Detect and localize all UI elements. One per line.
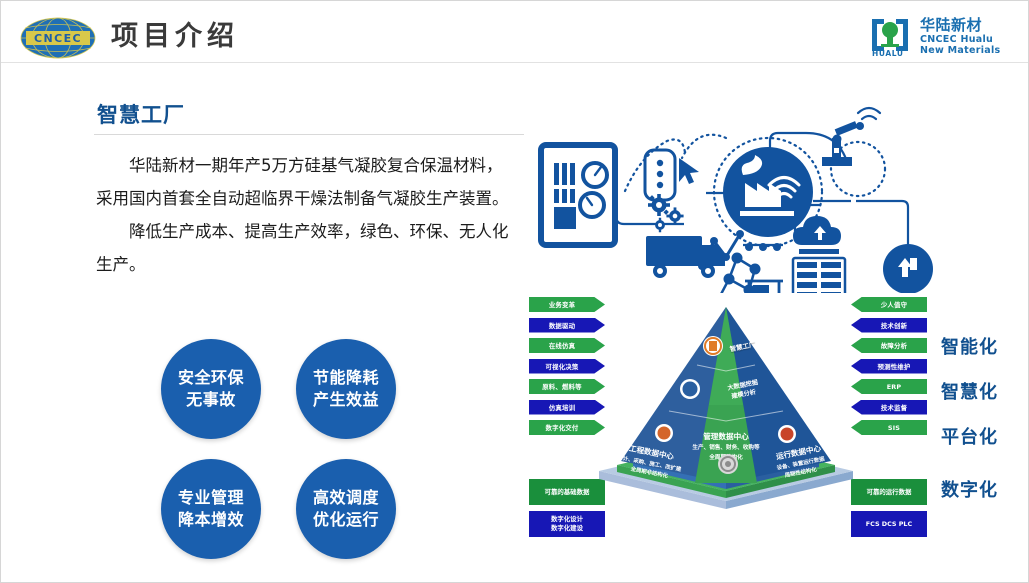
hualu-mark-icon: HUALU [872, 19, 908, 57]
benefit-circle-energy-line1: 节能降耗 [313, 367, 379, 389]
cursor-icon [679, 158, 699, 184]
pyramid-left-badge [655, 424, 673, 442]
hualu-logo-en1: CNCEC Hualu [920, 34, 993, 45]
level-word-platform: 平台化 [941, 423, 998, 449]
pyramid-apex-badge [703, 336, 723, 356]
pyramid-center-badge [718, 454, 738, 474]
smart-factory-illustration [521, 93, 1021, 293]
pyramid-tier3-line2: 生产、销售、财务、收购等 [692, 443, 760, 451]
benefit-circle-energy-line2: 产生效益 [313, 389, 379, 411]
upload-circle-icon [883, 244, 933, 293]
right-box-runtime-data-line1: 可靠的运行数据 [867, 488, 912, 497]
section-title: 智慧工厂 [97, 99, 185, 129]
pyramid-right-badge [778, 425, 796, 443]
benefit-circle-management-line1: 专业管理 [178, 487, 244, 509]
benefit-circle-management-line2: 降本增效 [178, 509, 244, 531]
level-word-digital: 数字化 [941, 476, 998, 502]
svg-text:HUALU: HUALU [872, 49, 904, 57]
benefit-circle-scheduling[interactable]: 高效调度 优化运行 [296, 459, 396, 559]
robot-arm-icon [822, 121, 864, 166]
left-box-base-data-line1: 可靠的基础数据 [545, 488, 590, 497]
right-tag-2: 故障分析 [851, 338, 927, 353]
right-tag-4: ERP [851, 379, 927, 394]
cncec-logo-text: CNCEC [34, 32, 82, 45]
right-tag-5: 技术监督 [851, 400, 927, 415]
body-paragraph-2: 降低生产成本、提高生产效率，绿色、环保、无人化生产。 [96, 215, 516, 281]
hualu-logo-en2: New Materials [920, 45, 1001, 56]
slide: CNCEC 项目介绍 HUALU 华陆新材 CNCEC Hualu New Ma… [0, 0, 1029, 583]
maturity-pyramid-diagram: 业务变革 数据驱动 在线仿真 可视化决策 原料、燃料等 仿真培训 数字化交付 可… [521, 293, 1026, 553]
body-paragraph-1: 华陆新材一期年产5万方硅基气凝胶复合保温材料，采用国内首套全自动超临界干燥法制备… [96, 149, 516, 215]
node-panel-icon [645, 150, 675, 200]
cncec-logo: CNCEC [17, 15, 99, 61]
benefit-circle-safety-line1: 安全环保 [178, 367, 244, 389]
benefit-circle-management[interactable]: 专业管理 降本增效 [161, 459, 261, 559]
dashboard-tablet-icon [541, 145, 615, 245]
level-word-intelligent: 智能化 [941, 333, 998, 359]
desk-box-icon [753, 285, 769, 293]
pyramid-tier2-badge [680, 379, 700, 399]
benefit-circle-safety[interactable]: 安全环保 无事故 [161, 339, 261, 439]
right-tag-6: SIS [851, 420, 927, 435]
right-box-runtime-data: 可靠的运行数据 [851, 479, 927, 505]
dots-row-icon [745, 243, 781, 251]
section-body: 华陆新材一期年产5万方硅基气凝胶复合保温材料，采用国内首套全自动超临界干燥法制备… [96, 149, 516, 281]
robot-wifi-icon [858, 108, 880, 119]
hualu-logo-cn: 华陆新材 [920, 16, 982, 34]
pyramid-graphic: 智慧工厂 大数据挖掘 建模分析 管理数据中心 生产、销售、财务、收购等 全周期结… [591, 293, 861, 533]
right-tag-3: 预测性维护 [851, 359, 927, 374]
right-tag-1: 技术创新 [851, 318, 927, 333]
hualu-logo: HUALU 华陆新材 CNCEC Hualu New Materials [868, 13, 1014, 57]
slide-header: CNCEC 项目介绍 HUALU 华陆新材 CNCEC Hualu New Ma… [1, 1, 1029, 63]
left-box-digital-design-line1: 数字化设计 [551, 515, 583, 524]
right-tag-0: 少人值守 [851, 297, 927, 312]
benefit-circle-scheduling-line1: 高效调度 [313, 487, 379, 509]
factory-wifi-icon [723, 147, 813, 237]
level-word-smart: 智慧化 [941, 378, 998, 404]
server-rack-icon [793, 249, 845, 293]
section-divider [94, 134, 524, 135]
benefit-circle-energy[interactable]: 节能降耗 产生效益 [296, 339, 396, 439]
right-box-fcs-dcs-plc-line1: FCS DCS PLC [866, 520, 912, 529]
benefit-circle-safety-line2: 无事故 [186, 389, 236, 411]
benefit-circle-scheduling-line2: 优化运行 [313, 509, 379, 531]
header-divider [1, 62, 1029, 63]
benefit-circle-group: 安全环保 无事故 节能降耗 产生效益 专业管理 降本增效 高效调度 优化运行 [161, 339, 421, 559]
pyramid-tier3-line1: 管理数据中心 [703, 431, 749, 441]
right-box-fcs-dcs-plc: FCS DCS PLC [851, 511, 927, 537]
page-title: 项目介绍 [111, 21, 239, 53]
pyramid-right-tag-column: 少人值守 技术创新 故障分析 预测性维护 ERP 技术监督 SIS [851, 297, 927, 441]
left-box-digital-design-line2: 数字化建设 [551, 524, 583, 533]
